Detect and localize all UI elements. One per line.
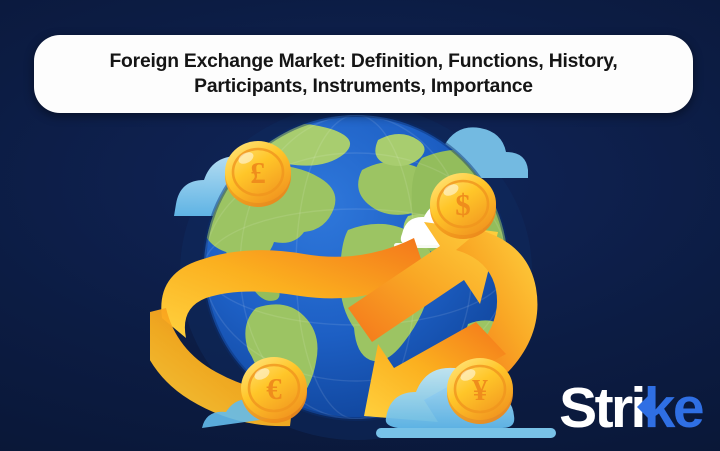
pound-coin: £ [225,141,291,207]
page-title-line-2: Participants, Instruments, Importance [109,74,617,99]
page-title-line-1: Foreign Exchange Market: Definition, Fun… [109,51,617,72]
dollar-coin-symbol: $ [455,187,471,222]
strike-logo-text-accent: ke [644,380,702,437]
illustration-stage: £ $ € [150,112,570,451]
strike-logo-accent-label: ke [644,376,702,440]
euro-coin: € [241,357,307,423]
yen-coin: ¥ [447,358,513,424]
logo-arrow-icon [637,392,652,422]
page-title: Foreign Exchange Market: Definition, Fun… [95,49,631,100]
euro-coin-symbol: € [266,371,282,406]
forex-banner: Foreign Exchange Market: Definition, Fun… [0,0,720,451]
yen-coin-symbol: ¥ [472,372,488,407]
pound-coin-symbol: £ [250,155,266,190]
dollar-coin: $ [430,173,496,239]
forex-globe-illustration: £ $ € [150,112,570,451]
strike-logo[interactable]: Stri ke [559,380,702,437]
title-card: Foreign Exchange Market: Definition, Fun… [34,35,693,113]
strike-logo-text-primary: Stri [559,380,644,437]
